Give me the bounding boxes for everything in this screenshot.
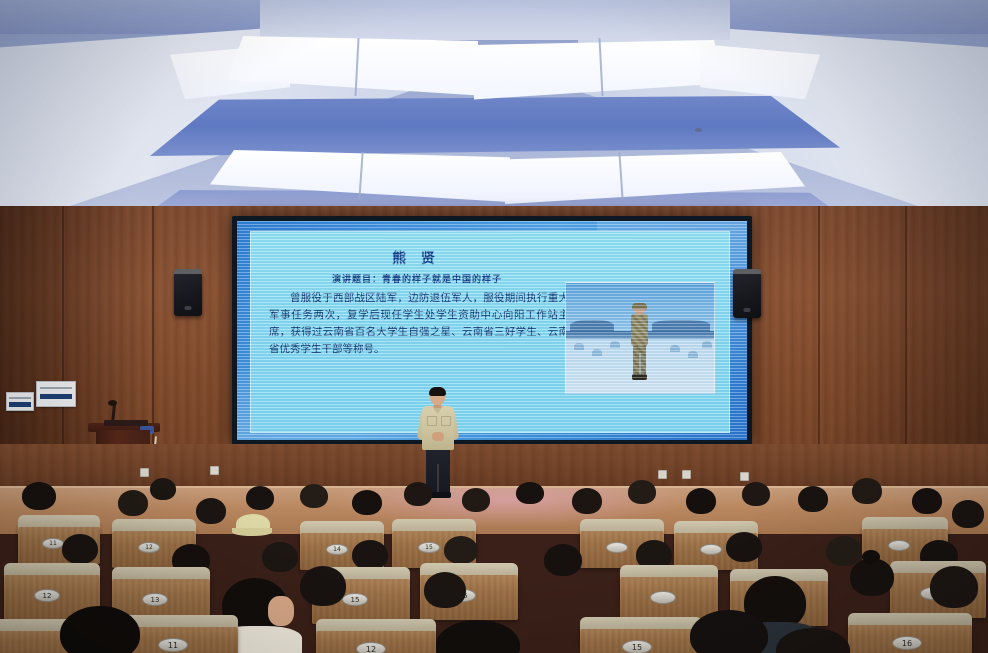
saluting-soldier-figure bbox=[627, 305, 653, 381]
seat[interactable]: 15 bbox=[580, 624, 702, 653]
attendee-head bbox=[424, 572, 466, 608]
ceiling-soffit-center bbox=[260, 0, 730, 40]
seat-number-plate: 15 bbox=[622, 640, 652, 653]
attendee-head bbox=[150, 478, 176, 500]
attendee-head bbox=[686, 488, 716, 514]
attendee-head bbox=[196, 498, 226, 524]
presentation-screen[interactable]: 熊 贤 演讲题目：青春的样子就是中国的样子 曾服役于西部战区陆军，边防退伍军人，… bbox=[237, 221, 747, 440]
seat-number-plate bbox=[888, 540, 910, 551]
slide-inset-photo bbox=[565, 282, 715, 394]
seat-number-plate: 15 bbox=[342, 593, 368, 606]
seat-number-plate bbox=[650, 591, 676, 604]
attendee-head bbox=[742, 482, 770, 506]
ceiling-sensor-icon bbox=[695, 128, 702, 132]
seat[interactable]: 16 bbox=[848, 620, 972, 653]
auditorium-photo: 熊 贤 演讲题目：青春的样子就是中国的样子 曾服役于西部战区陆军，边防退伍军人，… bbox=[0, 0, 988, 653]
attendee-head bbox=[572, 488, 602, 514]
wall-sign-small bbox=[6, 392, 34, 411]
attendee-face bbox=[268, 596, 294, 626]
wall-panel-seam bbox=[818, 206, 820, 446]
loudspeaker-left-icon bbox=[174, 272, 202, 316]
attendee-head bbox=[544, 544, 582, 576]
attendee-head-foreground bbox=[60, 606, 140, 653]
wall-panel-seam bbox=[905, 206, 907, 456]
seat-number-plate: 13 bbox=[142, 593, 168, 606]
loudspeaker-right-icon bbox=[733, 272, 761, 318]
attendee-head bbox=[912, 488, 942, 514]
attendee-head bbox=[352, 540, 388, 570]
seat-number-plate bbox=[606, 542, 628, 553]
seat-number-plate: 11 bbox=[158, 638, 188, 652]
seat-number-plate: 11 bbox=[42, 538, 64, 549]
attendee-head bbox=[352, 490, 382, 515]
attendee-hair-bun bbox=[862, 550, 880, 564]
attendee-head bbox=[930, 566, 978, 608]
seat-number-plate: 15 bbox=[418, 542, 440, 553]
attendee-head bbox=[952, 500, 984, 528]
audience-area: 11 12 14 15 bbox=[0, 470, 988, 653]
attendee-head bbox=[798, 486, 828, 512]
slide-title: 熊 贤 bbox=[251, 248, 581, 268]
slide-canvas: 熊 贤 演讲题目：青春的样子就是中国的样子 曾服役于西部战区陆军，边防退伍军人，… bbox=[250, 231, 730, 433]
attendee-head bbox=[726, 532, 762, 562]
seat-number-plate bbox=[700, 544, 722, 555]
attendee-head-foreground bbox=[690, 610, 768, 653]
attendee-head bbox=[22, 482, 56, 510]
slide-subtitle: 演讲题目：青春的样子就是中国的样子 bbox=[257, 272, 577, 285]
seat[interactable]: 12 bbox=[316, 626, 436, 653]
attendee-head bbox=[628, 480, 656, 504]
attendee-head bbox=[462, 488, 490, 512]
wall-sign-large bbox=[36, 381, 76, 407]
attendee-head bbox=[118, 490, 148, 516]
attendee-head bbox=[246, 486, 274, 510]
seat[interactable] bbox=[620, 572, 718, 622]
attendee-head bbox=[852, 478, 882, 504]
wall-panel-seam bbox=[152, 206, 154, 446]
attendee-head bbox=[404, 482, 432, 506]
wall-panel-seam bbox=[62, 206, 64, 456]
seat-number-plate: 12 bbox=[356, 642, 386, 653]
seat-number-plate: 12 bbox=[34, 589, 60, 602]
seat-number-plate: 14 bbox=[326, 544, 348, 555]
attendee-head bbox=[262, 542, 298, 572]
attendee-head bbox=[300, 484, 328, 508]
seat-number-plate: 16 bbox=[892, 636, 922, 650]
seat-number-plate: 12 bbox=[138, 542, 160, 553]
attendee-head bbox=[300, 566, 346, 606]
microphone-head-icon bbox=[108, 400, 117, 406]
slide-body-text: 曾服役于西部战区陆军，边防退伍军人，服役期间执行重大军事任务两次，复学后现任学生… bbox=[269, 290, 569, 358]
attendee-cap-brim-icon bbox=[232, 528, 272, 536]
attendee-head bbox=[516, 482, 544, 504]
attendee-head-foreground bbox=[436, 620, 520, 653]
attendee-head bbox=[826, 536, 862, 566]
ceiling bbox=[0, 0, 988, 232]
attendee-head bbox=[62, 534, 98, 564]
attendee-head bbox=[444, 536, 478, 564]
ceiling-cove-upper bbox=[150, 96, 840, 156]
